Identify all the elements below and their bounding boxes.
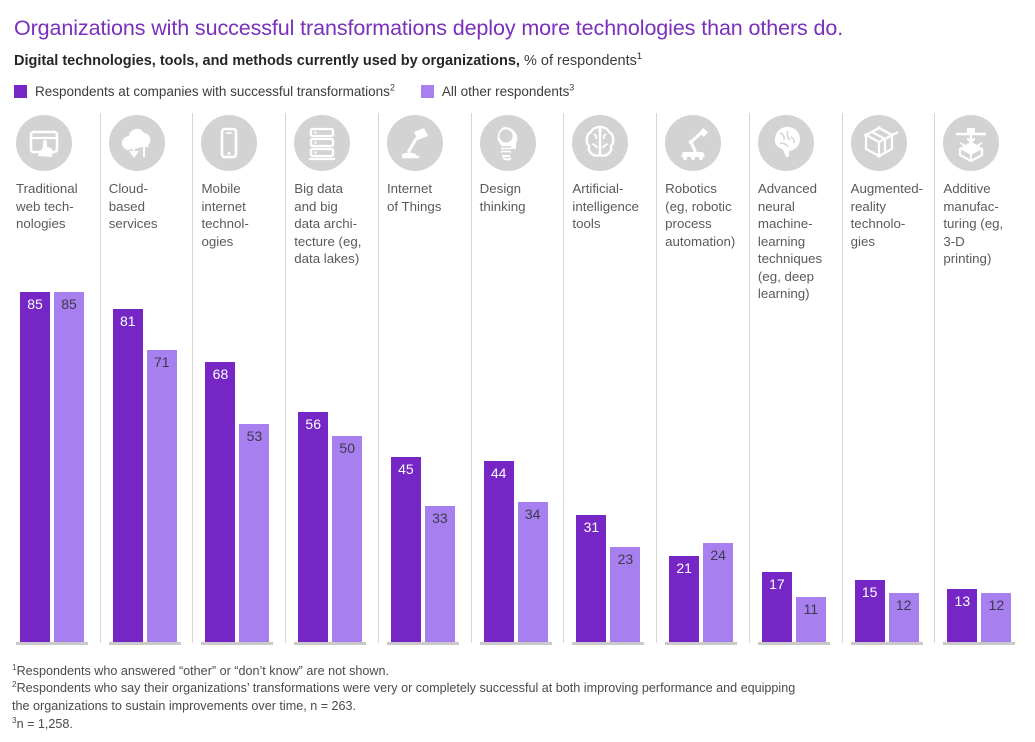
category-column: Mobile internet technol- ogies6853 bbox=[192, 113, 285, 643]
category-column: Design thinking4434 bbox=[471, 113, 564, 643]
bar-baseline bbox=[851, 642, 923, 645]
bar-baseline bbox=[665, 642, 737, 645]
subtitle-bold-text: Digital technologies, tools, and methods… bbox=[14, 53, 520, 69]
bar-value-label: 53 bbox=[239, 429, 269, 443]
legend-footnote-marker: 2 bbox=[390, 83, 395, 93]
category-column: Cloud- based services8171 bbox=[100, 113, 193, 643]
bar-value-label: 11 bbox=[796, 602, 826, 616]
category-column-inner: Internet of Things4533 bbox=[379, 115, 471, 645]
category-column: Artificial- intelligence tools3123 bbox=[563, 113, 656, 643]
bar-group: 4533 bbox=[387, 115, 467, 645]
bar-baseline bbox=[480, 642, 552, 645]
category-column-inner: Augmented- reality technolo- gies1512 bbox=[843, 115, 935, 645]
legend-label: Respondents at companies with successful… bbox=[35, 84, 395, 99]
bar-successful[interactable]: 15 bbox=[855, 580, 885, 642]
category-column: Big data and big data archi- tecture (eg… bbox=[285, 113, 378, 643]
bar-successful[interactable]: 13 bbox=[947, 589, 977, 643]
bar-value-label: 12 bbox=[889, 598, 919, 612]
bar-group: 1711 bbox=[758, 115, 838, 645]
chart-legend: Respondents at companies with successful… bbox=[14, 84, 1021, 99]
bar-group: 1312 bbox=[943, 115, 1023, 645]
footnote: 3n = 1,258. bbox=[12, 716, 795, 734]
bar-value-label: 71 bbox=[147, 355, 177, 369]
footnote: 2Respondents who say their organizations… bbox=[12, 680, 795, 716]
bar-successful[interactable]: 31 bbox=[576, 515, 606, 643]
bar-group: 6853 bbox=[201, 115, 281, 645]
bar-value-label: 21 bbox=[669, 561, 699, 575]
category-column: Augmented- reality technolo- gies1512 bbox=[842, 113, 935, 643]
bar-value-label: 50 bbox=[332, 441, 362, 455]
bar-baseline bbox=[109, 642, 181, 645]
footnote: 1Respondents who answered “other” or “do… bbox=[12, 663, 795, 681]
bar-successful[interactable]: 85 bbox=[20, 292, 50, 642]
bar-value-label: 44 bbox=[484, 466, 514, 480]
category-column: Traditional web tech- nologies8585 bbox=[8, 113, 100, 643]
bar-value-label: 45 bbox=[391, 462, 421, 476]
bar-successful[interactable]: 81 bbox=[113, 309, 143, 643]
bar-successful[interactable]: 21 bbox=[669, 556, 699, 642]
bar-successful[interactable]: 17 bbox=[762, 572, 792, 642]
bar-all-other[interactable]: 12 bbox=[981, 593, 1011, 642]
bar-all-other[interactable]: 50 bbox=[332, 436, 362, 642]
bar-value-label: 85 bbox=[54, 297, 84, 311]
bar-group: 1512 bbox=[851, 115, 931, 645]
category-column: Internet of Things4533 bbox=[378, 113, 471, 643]
category-columns: Traditional web tech- nologies8585Cloud-… bbox=[8, 113, 1027, 643]
bar-all-other[interactable]: 12 bbox=[889, 593, 919, 642]
bar-value-label: 24 bbox=[703, 548, 733, 562]
chart-plot-area: Traditional web tech- nologies8585Cloud-… bbox=[8, 113, 1027, 643]
bar-successful[interactable]: 68 bbox=[205, 362, 235, 642]
bar-value-label: 81 bbox=[113, 314, 143, 328]
bar-baseline bbox=[943, 642, 1015, 645]
category-column: Advanced neural machine- learning techni… bbox=[749, 113, 842, 643]
bar-value-label: 33 bbox=[425, 511, 455, 525]
bar-all-other[interactable]: 11 bbox=[796, 597, 826, 642]
page-title: Organizations with successful transforma… bbox=[14, 16, 1021, 42]
bar-all-other[interactable]: 33 bbox=[425, 506, 455, 642]
bar-baseline bbox=[294, 642, 366, 645]
bar-successful[interactable]: 44 bbox=[484, 461, 514, 642]
bar-value-label: 13 bbox=[947, 594, 977, 608]
bar-all-other[interactable]: 24 bbox=[703, 543, 733, 642]
bar-value-label: 23 bbox=[610, 552, 640, 566]
bar-baseline bbox=[387, 642, 459, 645]
bar-value-label: 15 bbox=[855, 585, 885, 599]
bar-value-label: 17 bbox=[762, 577, 792, 591]
footnote-text: Respondents who say their organizations’… bbox=[12, 681, 795, 713]
category-column-inner: Artificial- intelligence tools3123 bbox=[564, 115, 656, 645]
bar-value-label: 12 bbox=[981, 598, 1011, 612]
bar-value-label: 31 bbox=[576, 520, 606, 534]
bar-value-label: 56 bbox=[298, 417, 328, 431]
chart-footnotes: 1Respondents who answered “other” or “do… bbox=[12, 663, 795, 735]
category-column-inner: Big data and big data archi- tecture (eg… bbox=[286, 115, 378, 645]
bar-group: 4434 bbox=[480, 115, 560, 645]
bar-value-label: 34 bbox=[518, 507, 548, 521]
bar-all-other[interactable]: 23 bbox=[610, 547, 640, 642]
legend-label: All other respondents3 bbox=[442, 84, 574, 99]
bar-all-other[interactable]: 85 bbox=[54, 292, 84, 642]
bar-group: 8171 bbox=[109, 115, 189, 645]
subtitle-footnote-marker: 1 bbox=[637, 50, 642, 61]
bar-all-other[interactable]: 34 bbox=[518, 502, 548, 642]
footnote-text: Respondents who answered “other” or “don… bbox=[17, 664, 389, 678]
bar-baseline bbox=[16, 642, 88, 645]
legend-footnote-marker: 3 bbox=[569, 83, 574, 93]
category-column-inner: Traditional web tech- nologies8585 bbox=[8, 115, 100, 645]
category-column-inner: Robotics (eg, robotic process automation… bbox=[657, 115, 749, 645]
bar-baseline bbox=[572, 642, 644, 645]
bar-value-label: 68 bbox=[205, 367, 235, 381]
bar-successful[interactable]: 45 bbox=[391, 457, 421, 642]
bar-group: 2124 bbox=[665, 115, 745, 645]
bar-successful[interactable]: 56 bbox=[298, 412, 328, 643]
subtitle-light-text: % of respondents bbox=[520, 53, 637, 69]
bar-group: 3123 bbox=[572, 115, 652, 645]
category-column-inner: Advanced neural machine- learning techni… bbox=[750, 115, 842, 645]
legend-all-other[interactable]: All other respondents3 bbox=[421, 84, 574, 99]
category-column: Robotics (eg, robotic process automation… bbox=[656, 113, 749, 643]
bar-group: 5650 bbox=[294, 115, 374, 645]
chart-header: Organizations with successful transforma… bbox=[0, 0, 1035, 99]
category-column-inner: Additive manufac- turing (eg, 3-D printi… bbox=[935, 115, 1027, 645]
category-column-inner: Design thinking4434 bbox=[472, 115, 564, 645]
category-column-inner: Cloud- based services8171 bbox=[101, 115, 193, 645]
bar-value-label: 85 bbox=[20, 297, 50, 311]
chart-subtitle: Digital technologies, tools, and methods… bbox=[14, 53, 1021, 70]
category-column-inner: Mobile internet technol- ogies6853 bbox=[193, 115, 285, 645]
footnote-text: n = 1,258. bbox=[17, 717, 73, 731]
legend-swatch-icon bbox=[421, 85, 434, 98]
legend-successful[interactable]: Respondents at companies with successful… bbox=[14, 84, 395, 99]
bar-baseline bbox=[201, 642, 273, 645]
bar-all-other[interactable]: 53 bbox=[239, 424, 269, 642]
bar-baseline bbox=[758, 642, 830, 645]
bar-all-other[interactable]: 71 bbox=[147, 350, 177, 642]
category-column: Additive manufac- turing (eg, 3-D printi… bbox=[934, 113, 1027, 643]
legend-swatch-icon bbox=[14, 85, 27, 98]
bar-group: 8585 bbox=[16, 115, 96, 645]
